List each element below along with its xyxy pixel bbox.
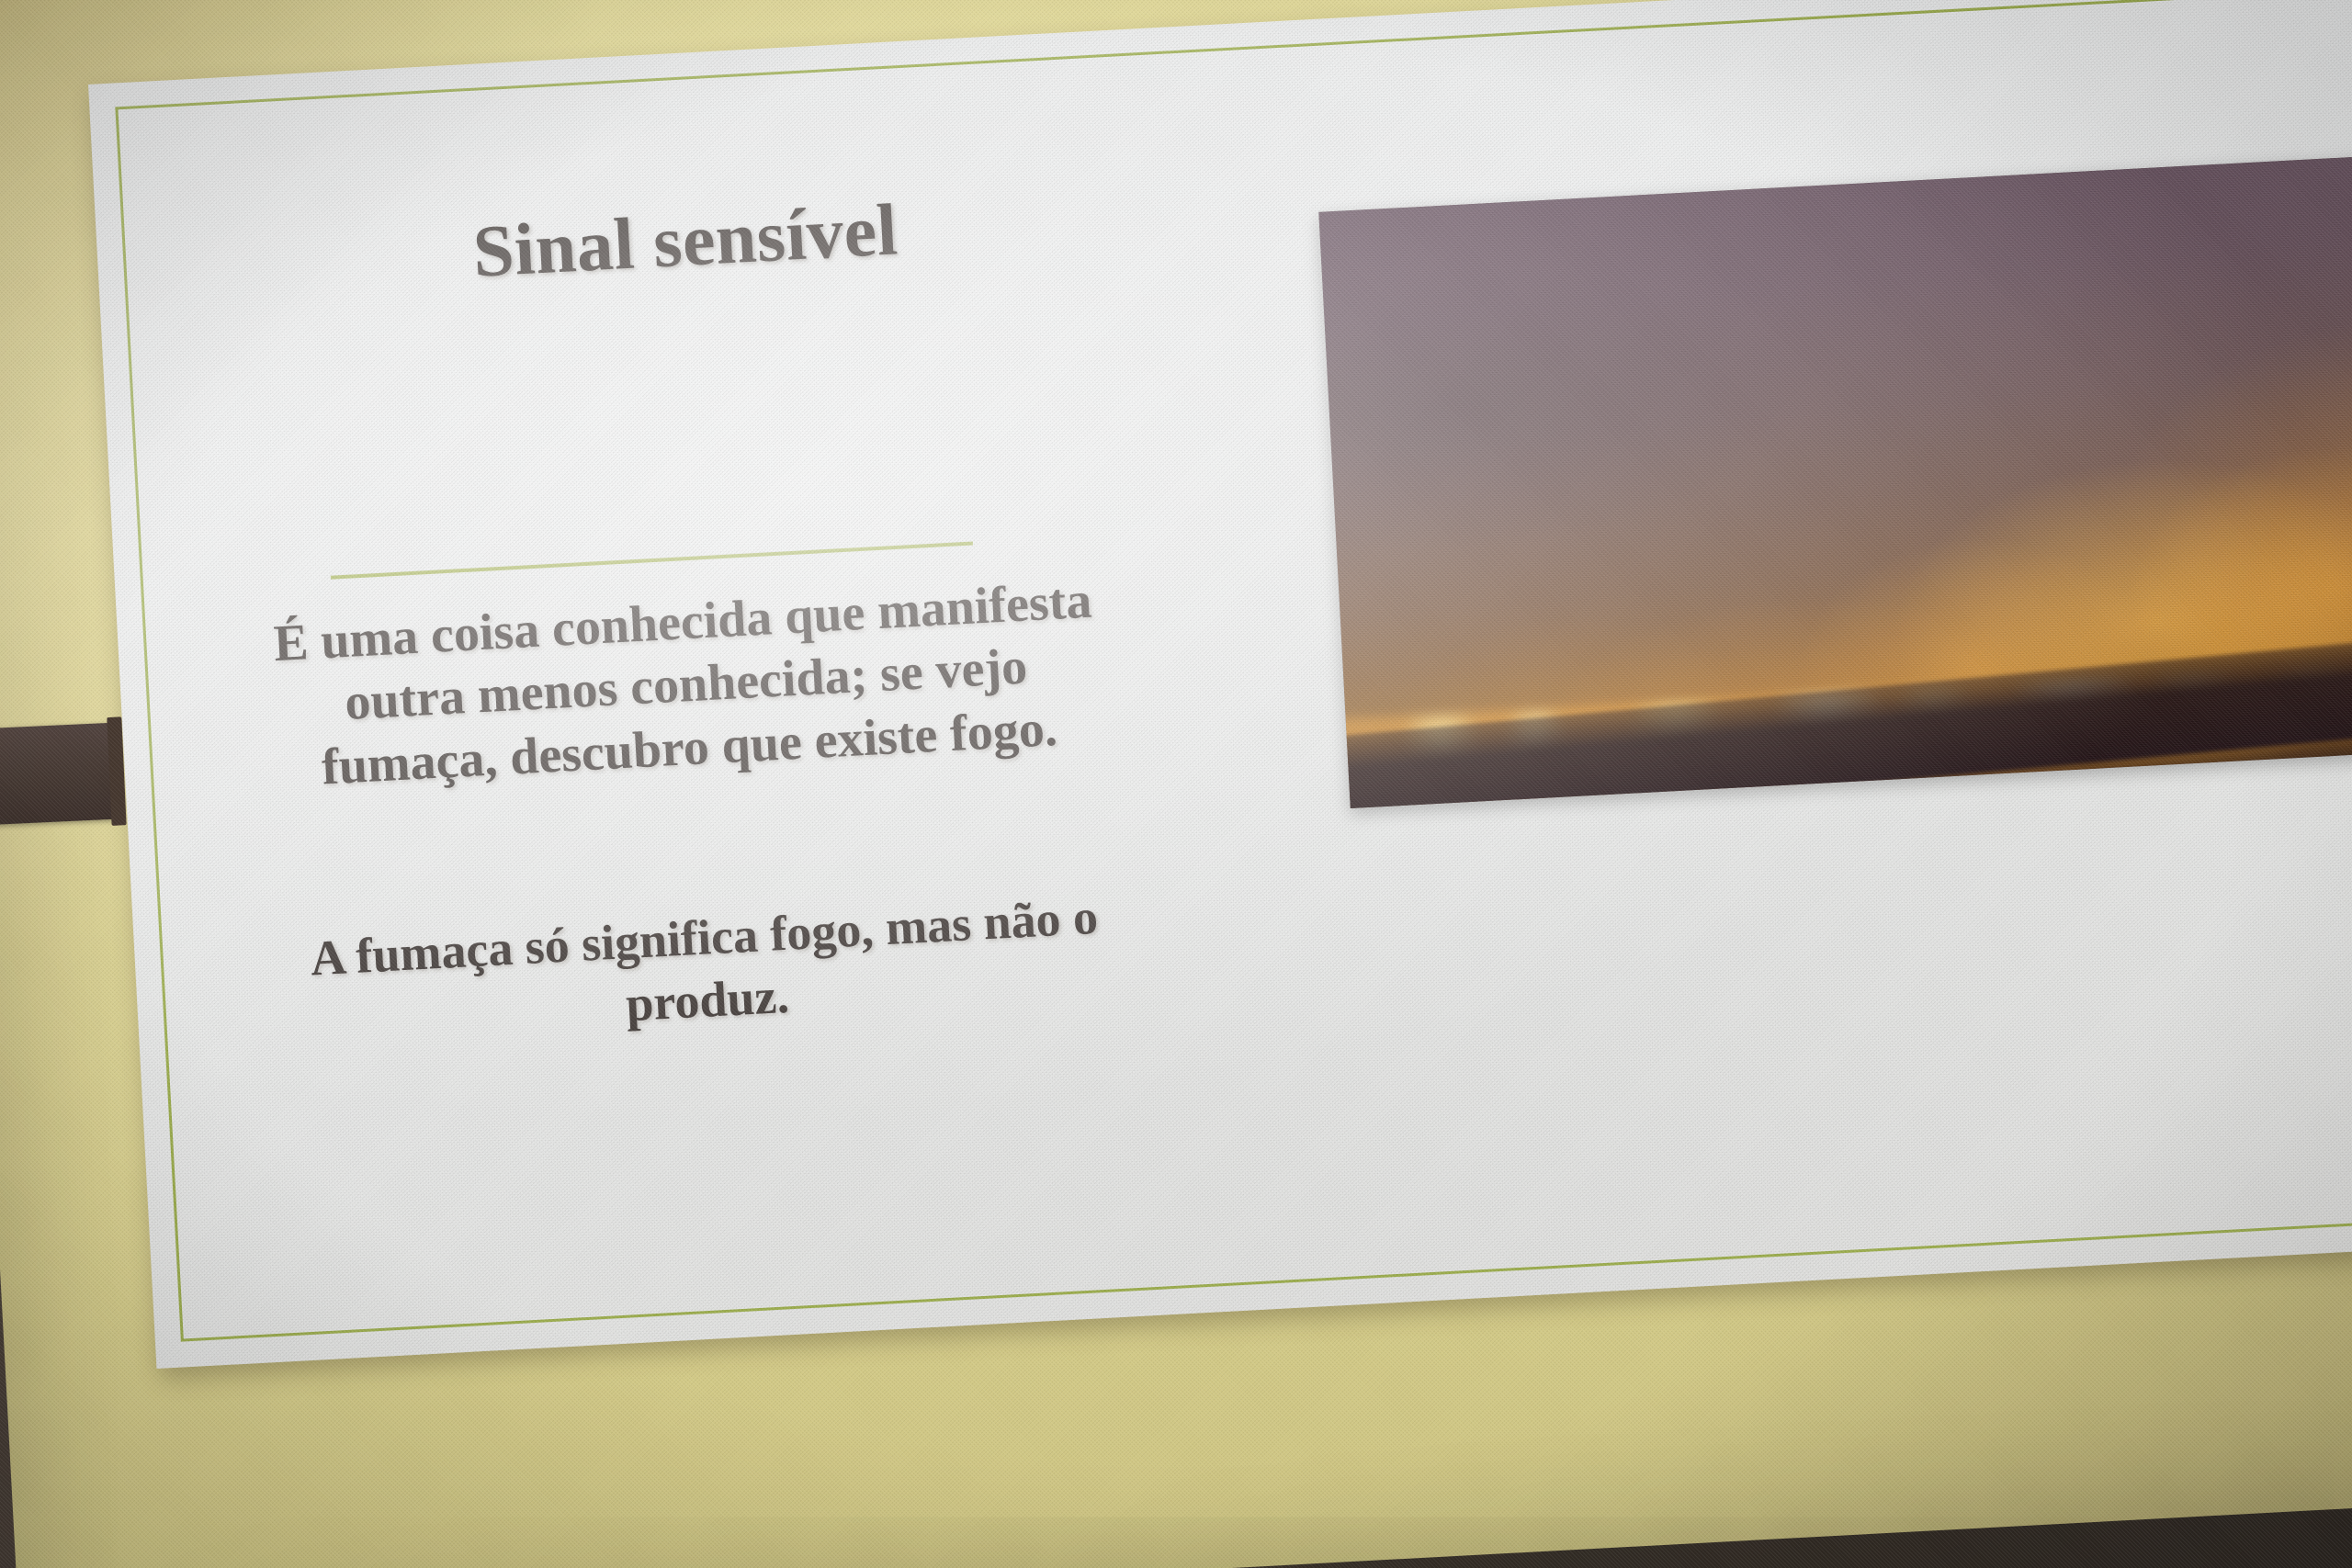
title-divider-rule [331,541,973,579]
projection-photo-stage: Sinal sensível É uma coisa conhecida que… [0,0,2352,1568]
slide-paragraph-2: A fumaça só significa fogo, mas não o pr… [280,885,1131,1054]
screen-mount-bracket [0,723,117,825]
slide-title: Sinal sensível [270,178,1101,306]
wildfire-image [1318,152,2352,808]
slide-paragraph-1: É uma coisa conhecida que manifesta outr… [254,569,1118,802]
slide-content-panel: Sinal sensível É uma coisa conhecida que… [88,0,2352,1369]
slide-content: Sinal sensível É uma coisa conhecida que… [88,0,2352,1369]
